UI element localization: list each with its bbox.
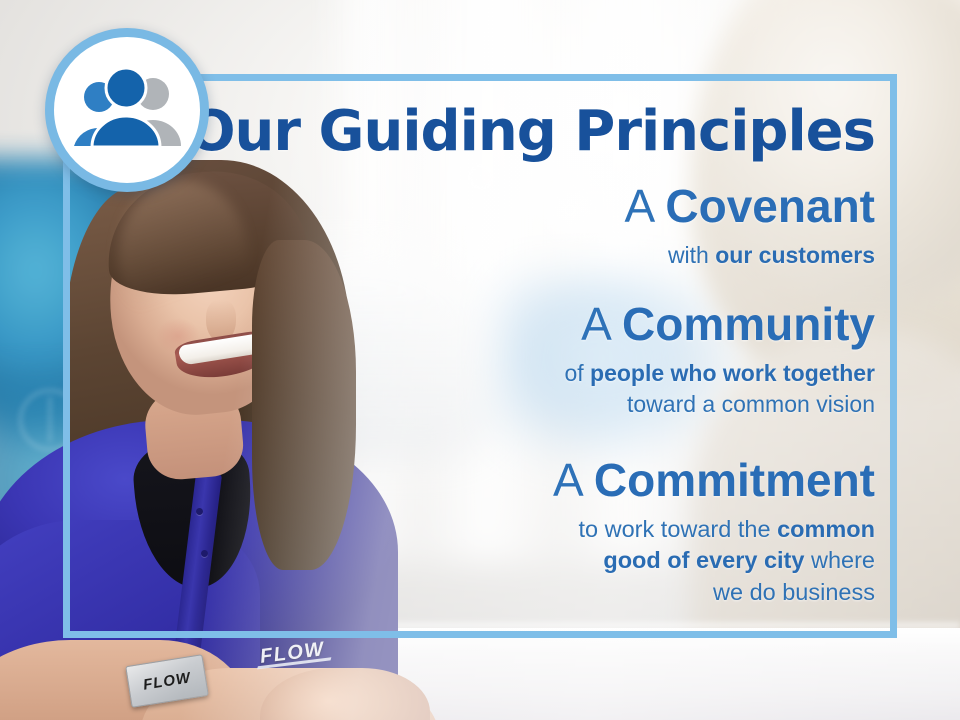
employee-hair-front — [252, 240, 356, 570]
guiding-principles-graphic: FLOW FLOW Our Guiding Principles A Coven… — [0, 0, 960, 720]
people-group-icon — [71, 68, 183, 152]
bokeh-highlight — [605, 223, 635, 253]
people-badge — [45, 28, 209, 192]
polo-button — [196, 508, 203, 515]
bokeh-highlight — [470, 166, 492, 188]
employee-hair-sheen — [118, 180, 248, 330]
employee-figure: FLOW FLOW — [0, 120, 460, 720]
name-badge-logo-text: FLOW — [142, 669, 192, 693]
polo-button — [201, 550, 208, 557]
